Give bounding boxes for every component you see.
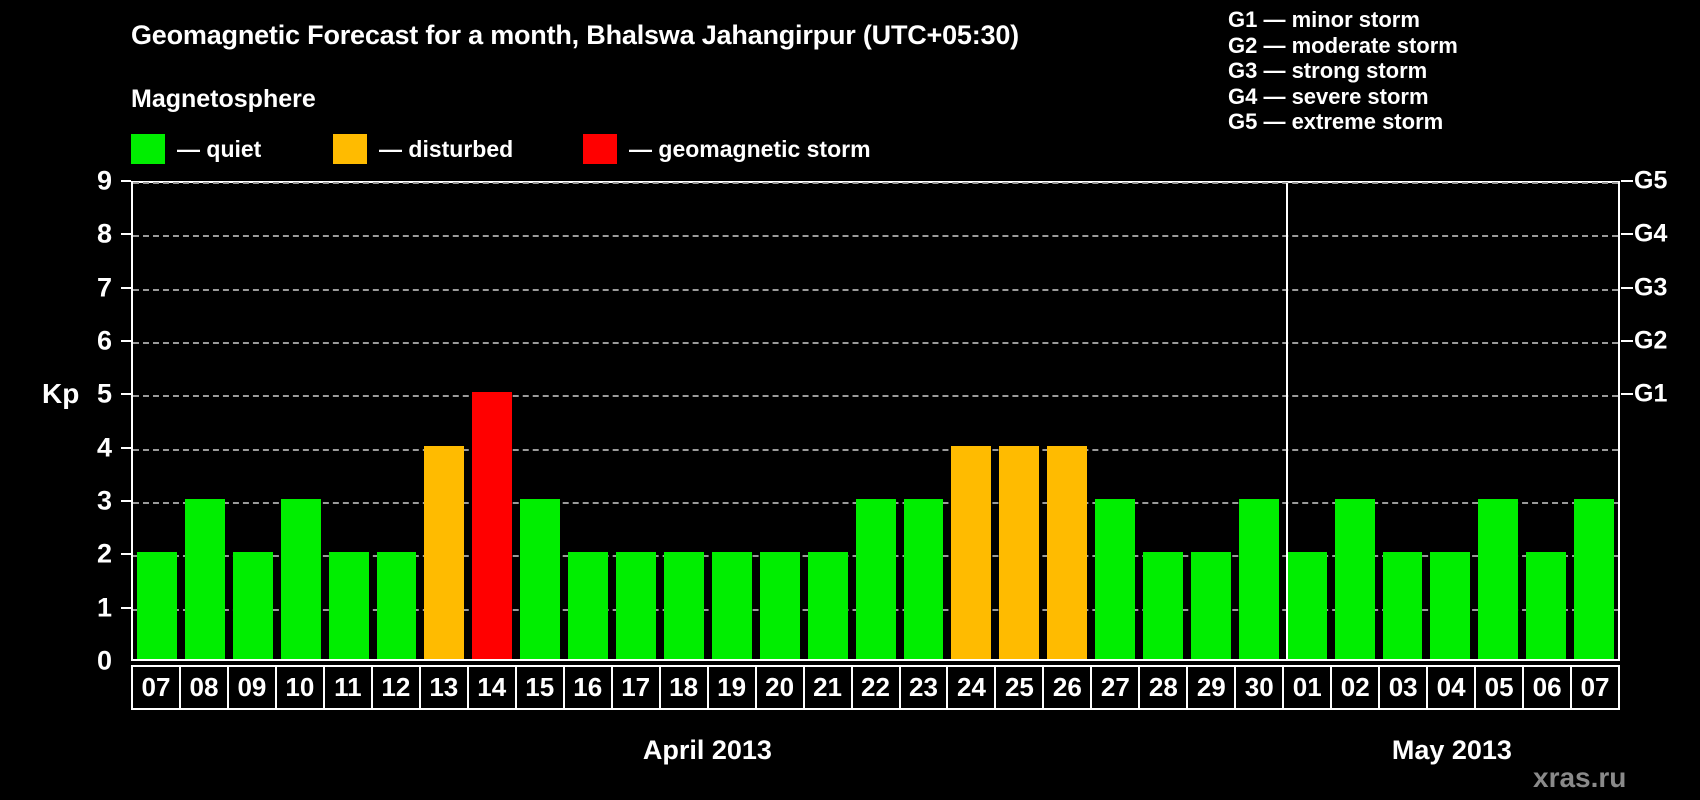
g-axis-tick-G2 [1621,340,1633,342]
g-axis-tick-G3 [1621,287,1633,289]
y-tick-label-4: 4 [78,432,112,463]
bar-cell[interactable] [1091,183,1139,659]
y-tick-label-1: 1 [78,592,112,623]
g-axis-tick-G4 [1621,233,1633,235]
bar-23-kp3[interactable] [904,499,944,659]
day-label-25[interactable]: 25 [996,667,1044,708]
bar-cell[interactable] [852,183,900,659]
bar-28-kp2[interactable] [1143,552,1183,659]
bar-cell[interactable] [1235,183,1283,659]
bar-29-kp2[interactable] [1191,552,1231,659]
bar-15-kp3[interactable] [520,499,560,659]
g-axis-tick-G5 [1621,180,1633,182]
day-label-04[interactable]: 04 [1428,667,1476,708]
y-tick-mark-9 [121,180,131,182]
storm-scale-line-4: G4 — severe storm [1228,84,1458,110]
legend-item-label: — disturbed [379,136,513,163]
bar-01-kp2[interactable] [1287,552,1327,659]
bar-cell[interactable] [1331,183,1379,659]
month-divider [1286,183,1288,659]
bar-03-kp2[interactable] [1383,552,1423,659]
day-label-17[interactable]: 17 [613,667,661,708]
bar-24-kp4[interactable] [951,446,991,659]
watermark: xras.ru [1533,762,1626,794]
day-label-19[interactable]: 19 [709,667,757,708]
bar-cell[interactable] [1522,183,1570,659]
day-label-23[interactable]: 23 [901,667,949,708]
day-label-13[interactable]: 13 [421,667,469,708]
y-tick-label-3: 3 [78,486,112,517]
y-tick-label-8: 8 [78,219,112,250]
bar-19-kp2[interactable] [712,552,752,659]
day-label-16[interactable]: 16 [565,667,613,708]
legend-item-label: — geomagnetic storm [629,136,871,163]
bar-25-kp4[interactable] [999,446,1039,659]
day-label-20[interactable]: 20 [757,667,805,708]
bar-18-kp2[interactable] [664,552,704,659]
storm-scale-line-1: G1 — minor storm [1228,7,1458,33]
y-tick-mark-1 [121,607,131,609]
bar-cell[interactable] [1043,183,1091,659]
day-label-27[interactable]: 27 [1092,667,1140,708]
bar-30-kp3[interactable] [1239,499,1279,659]
bar-07-kp2[interactable] [137,552,177,659]
y-tick-mark-7 [121,287,131,289]
bar-21-kp2[interactable] [808,552,848,659]
day-label-02[interactable]: 02 [1332,667,1380,708]
bar-05-kp3[interactable] [1478,499,1518,659]
bar-cell[interactable] [1474,183,1522,659]
bar-series [133,183,1618,659]
day-label-08[interactable]: 08 [181,667,229,708]
bar-17-kp2[interactable] [616,552,656,659]
g-axis-label-G3: G3 [1634,273,1667,302]
day-label-06[interactable]: 06 [1524,667,1572,708]
bar-09-kp2[interactable] [233,552,273,659]
bar-cell[interactable] [181,183,229,659]
bar-cell[interactable] [995,183,1043,659]
day-label-strip: 0708091011121314151617181920212223242526… [131,665,1620,710]
y-tick-label-5: 5 [78,379,112,410]
bar-12-kp2[interactable] [377,552,417,659]
red-swatch-icon [583,134,617,164]
storm-scale-line-2: G2 — moderate storm [1228,33,1458,59]
bar-14-kp5[interactable] [472,392,512,659]
legend-item-label: — quiet [177,136,261,163]
month-caption-1: May 2013 [1392,735,1512,766]
day-label-15[interactable]: 15 [517,667,565,708]
g-axis-label-G4: G4 [1634,220,1667,249]
bar-02-kp3[interactable] [1335,499,1375,659]
g-axis-label-G5: G5 [1634,167,1667,196]
storm-scale-line-5: G5 — extreme storm [1228,109,1458,135]
page-title: Geomagnetic Forecast for a month, Bhalsw… [131,20,1019,51]
bar-10-kp3[interactable] [281,499,321,659]
plot-inner [133,183,1618,659]
bar-cell[interactable] [708,183,756,659]
bar-cell[interactable] [1426,183,1474,659]
day-label-10[interactable]: 10 [277,667,325,708]
bar-cell[interactable] [1187,183,1235,659]
day-label-30[interactable]: 30 [1236,667,1284,708]
day-label-07[interactable]: 07 [1572,667,1618,708]
y-tick-mark-2 [121,553,131,555]
bar-cell[interactable] [804,183,852,659]
day-label-18[interactable]: 18 [661,667,709,708]
bar-cell[interactable] [947,183,995,659]
bar-cell[interactable] [660,183,708,659]
bar-cell[interactable] [373,183,421,659]
day-label-26[interactable]: 26 [1044,667,1092,708]
day-label-03[interactable]: 03 [1380,667,1428,708]
y-tick-mark-4 [121,447,131,449]
day-label-01[interactable]: 01 [1284,667,1332,708]
bar-cell[interactable] [612,183,660,659]
bar-cell[interactable] [564,183,612,659]
y-tick-mark-3 [121,500,131,502]
bar-cell[interactable] [229,183,277,659]
geomagnetic-forecast-chart: Geomagnetic Forecast for a month, Bhalsw… [0,0,1700,800]
y-tick-label-2: 2 [78,539,112,570]
bar-cell[interactable] [1570,183,1618,659]
legend-item-1: — disturbed [333,134,513,164]
bar-04-kp2[interactable] [1430,552,1470,659]
bar-cell[interactable] [516,183,564,659]
bar-cell[interactable] [468,183,516,659]
bar-cell[interactable] [133,183,181,659]
day-label-29[interactable]: 29 [1188,667,1236,708]
bar-13-kp4[interactable] [424,446,464,659]
bar-20-kp2[interactable] [760,552,800,659]
bar-26-kp4[interactable] [1047,446,1087,659]
bar-11-kp2[interactable] [329,552,369,659]
bar-cell[interactable] [900,183,948,659]
bar-cell[interactable] [420,183,468,659]
month-caption-0: April 2013 [643,735,772,766]
day-label-22[interactable]: 22 [853,667,901,708]
g-axis-label-G1: G1 [1634,380,1667,409]
storm-scale-key: G1 — minor stormG2 — moderate stormG3 — … [1228,7,1458,135]
y-axis-title: Kp [42,378,79,410]
y-tick-mark-8 [121,233,131,235]
day-label-28[interactable]: 28 [1140,667,1188,708]
orange-swatch-icon [333,134,367,164]
bar-cell[interactable] [325,183,373,659]
bar-cell[interactable] [1379,183,1427,659]
bar-cell[interactable] [277,183,325,659]
day-label-07[interactable]: 07 [133,667,181,708]
bar-08-kp3[interactable] [185,499,225,659]
magnetosphere-section-label: Magnetosphere [131,85,316,114]
bar-06-kp2[interactable] [1526,552,1566,659]
day-label-11[interactable]: 11 [325,667,373,708]
day-label-05[interactable]: 05 [1476,667,1524,708]
bar-27-kp3[interactable] [1095,499,1135,659]
y-tick-mark-5 [121,393,131,395]
bar-cell[interactable] [756,183,804,659]
legend-item-0: — quiet [131,134,261,164]
g-axis-tick-G1 [1621,393,1633,395]
bar-cell[interactable] [1283,183,1331,659]
day-label-14[interactable]: 14 [469,667,517,708]
y-tick-label-9: 9 [78,166,112,197]
bar-22-kp3[interactable] [856,499,896,659]
g-axis-label-G2: G2 [1634,327,1667,356]
green-swatch-icon [131,134,165,164]
day-label-21[interactable]: 21 [805,667,853,708]
y-tick-label-0: 0 [78,646,112,677]
day-label-24[interactable]: 24 [948,667,996,708]
day-label-12[interactable]: 12 [373,667,421,708]
bar-16-kp2[interactable] [568,552,608,659]
plot-area [131,181,1620,661]
day-label-09[interactable]: 09 [229,667,277,708]
legend-item-2: — geomagnetic storm [583,134,871,164]
y-tick-label-7: 7 [78,272,112,303]
y-tick-label-6: 6 [78,326,112,357]
bar-cell[interactable] [1139,183,1187,659]
bar-07-kp3[interactable] [1574,499,1614,659]
y-tick-mark-6 [121,340,131,342]
storm-scale-line-3: G3 — strong storm [1228,58,1458,84]
